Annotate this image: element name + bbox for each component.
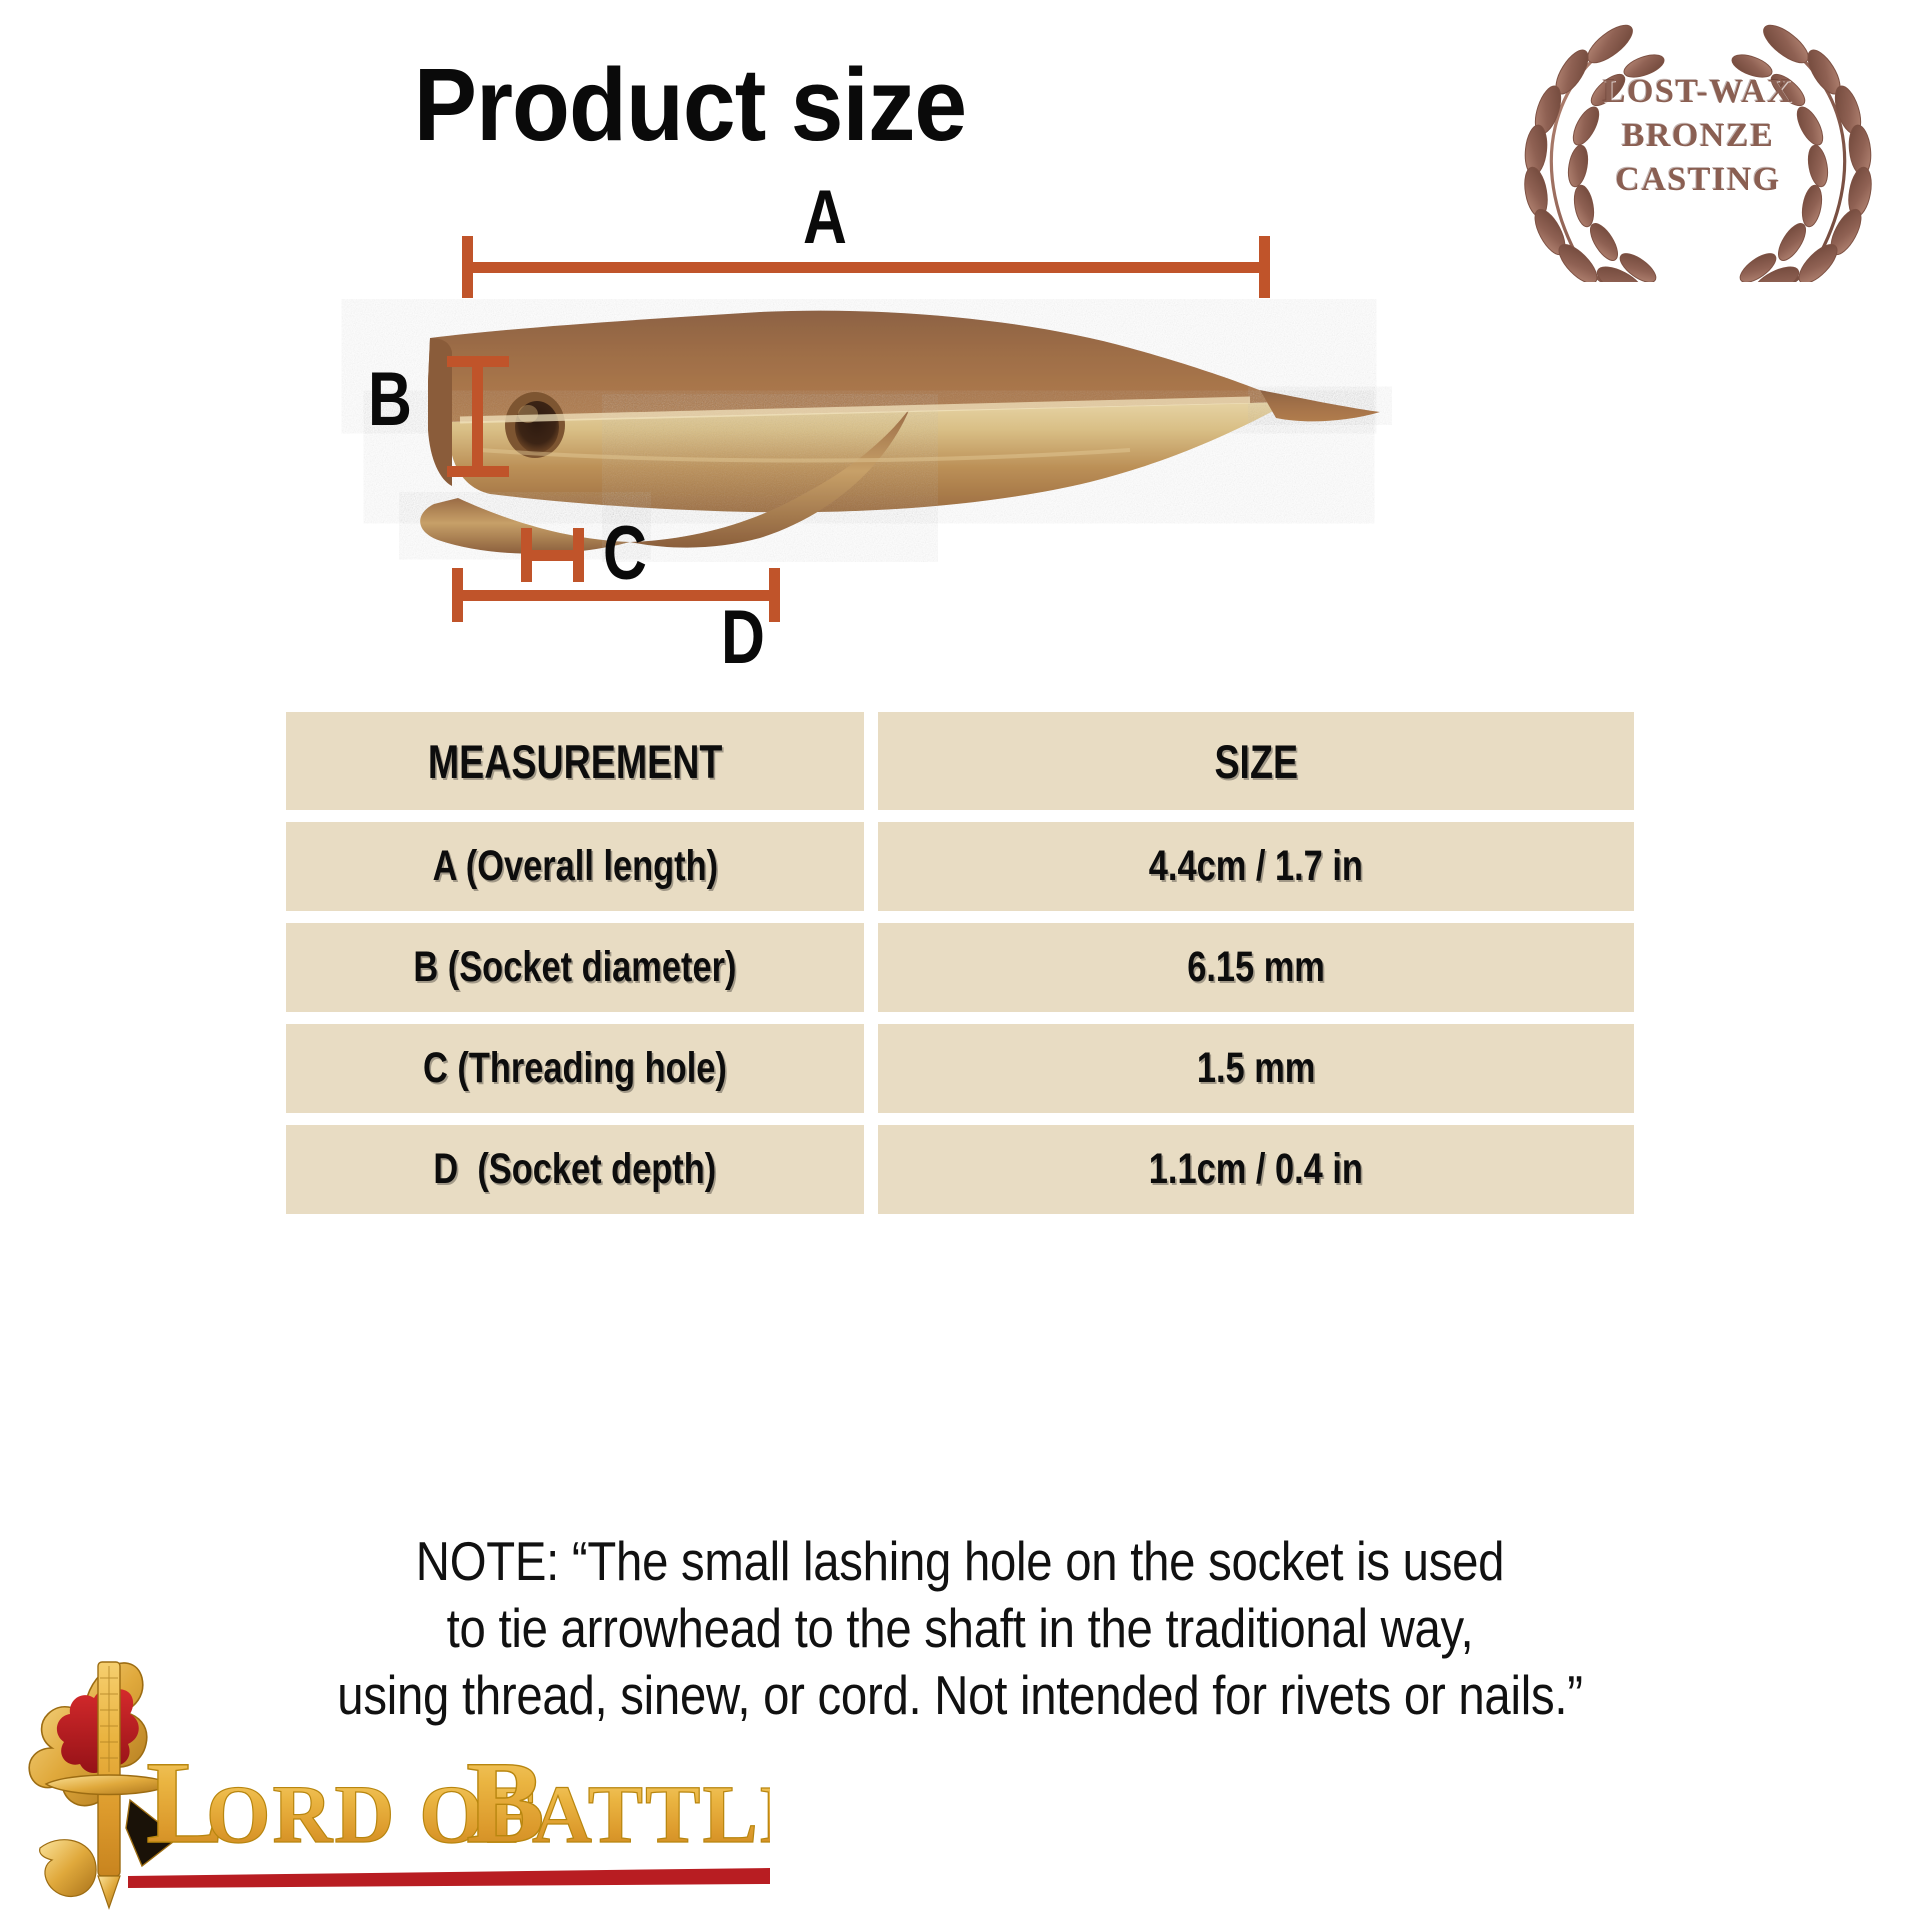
dimension-label-b: B	[362, 362, 418, 438]
table-cell-measurement-label: B (Socket diameter)	[413, 943, 736, 992]
dimension-a-cap-right	[1259, 236, 1270, 298]
note-line-1: NOTE: “The small lashing hole on the soc…	[186, 1528, 1734, 1595]
table-row: B (Socket diameter) 6.15 mm	[286, 923, 1634, 1012]
table-cell-size-label: 1.5 mm	[1197, 1044, 1316, 1093]
product-dimension-diagram: A B C D	[0, 180, 1920, 710]
dimension-c-cap-left	[521, 528, 532, 582]
table-row: C (Threading hole) 1.5 mm	[286, 1024, 1634, 1113]
lord-of-battles-logo: L ORD OF B ATTLES	[10, 1652, 770, 1920]
brand-word-attles: ATTLES	[532, 1768, 770, 1860]
table-row: A (Overall length) 4.4cm / 1.7 in	[286, 822, 1634, 911]
dimension-c-cap-right	[573, 528, 584, 582]
table-cell-measurement: A (Overall length)	[286, 822, 864, 911]
badge-line-2: BRONZE	[1498, 114, 1898, 158]
measurement-table: MEASUREMENT SIZE A (Overall length) 4.4c…	[286, 712, 1634, 1226]
dimension-b-cap-top	[447, 356, 509, 367]
dimension-line-a	[462, 262, 1270, 273]
dimension-label-c: C	[597, 516, 653, 592]
page-title: Product size	[55, 46, 1325, 164]
table-cell-measurement-label: A (Overall length)	[432, 842, 717, 891]
badge-line-1: LOST-WAX	[1498, 70, 1898, 114]
table-cell-size-label: 1.1cm / 0.4 in	[1149, 1145, 1363, 1194]
table-cell-measurement-label: C (Threading hole)	[423, 1044, 727, 1093]
table-row: D (Socket depth) 1.1cm / 0.4 in	[286, 1125, 1634, 1214]
table-cell-size: 6.15 mm	[878, 923, 1634, 1012]
table-header-measurement-label: MEASUREMENT	[428, 734, 723, 789]
table-header-size: SIZE	[878, 712, 1634, 810]
dimension-line-b	[472, 362, 483, 472]
table-cell-size: 1.5 mm	[878, 1024, 1634, 1113]
table-cell-measurement: C (Threading hole)	[286, 1024, 864, 1113]
arrowhead-image	[330, 290, 1400, 570]
table-cell-measurement-label: D (Socket depth)	[434, 1145, 717, 1194]
brand-underline	[128, 1868, 770, 1888]
table-cell-size: 4.4cm / 1.7 in	[878, 822, 1634, 911]
dimension-label-a: A	[797, 180, 853, 256]
table-cell-measurement: B (Socket diameter)	[286, 923, 864, 1012]
table-header-row: MEASUREMENT SIZE	[286, 712, 1634, 810]
dimension-label-d: D	[715, 600, 771, 676]
table-cell-size-label: 4.4cm / 1.7 in	[1149, 842, 1363, 891]
table-cell-size-label: 6.15 mm	[1187, 943, 1325, 992]
table-header-size-label: SIZE	[1214, 734, 1298, 789]
dimension-b-cap-bottom	[447, 466, 509, 477]
table-header-measurement: MEASUREMENT	[286, 712, 864, 810]
table-cell-size: 1.1cm / 0.4 in	[878, 1125, 1634, 1214]
table-cell-measurement: D (Socket depth)	[286, 1125, 864, 1214]
lord-of-battles-logo-svg: L ORD OF B ATTLES	[10, 1652, 770, 1920]
dimension-a-cap-left	[462, 236, 473, 298]
dimension-d-cap-left	[452, 568, 463, 622]
